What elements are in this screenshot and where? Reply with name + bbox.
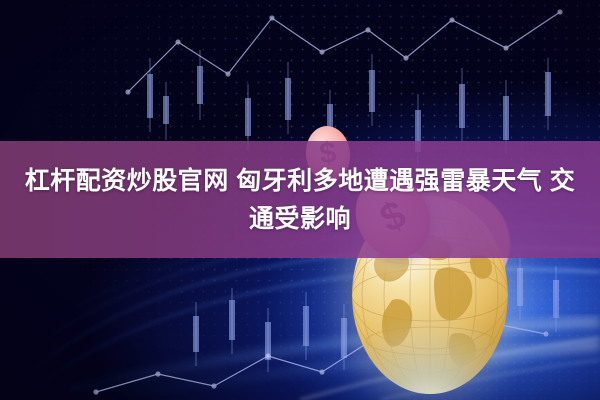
globe-bottom-glow	[352, 315, 508, 394]
headline-text: 杠杆配资炒股官网 匈牙利多地遭遇强雷暴天气 交通受影响	[22, 162, 578, 238]
news-banner: $ $ 杠杆配资炒股官网 匈牙利多地遭遇强雷暴天气 交通受影响	[0, 0, 600, 400]
headline-band: 杠杆配资炒股官网 匈牙利多地遭遇强雷暴天气 交通受影响	[0, 141, 600, 258]
